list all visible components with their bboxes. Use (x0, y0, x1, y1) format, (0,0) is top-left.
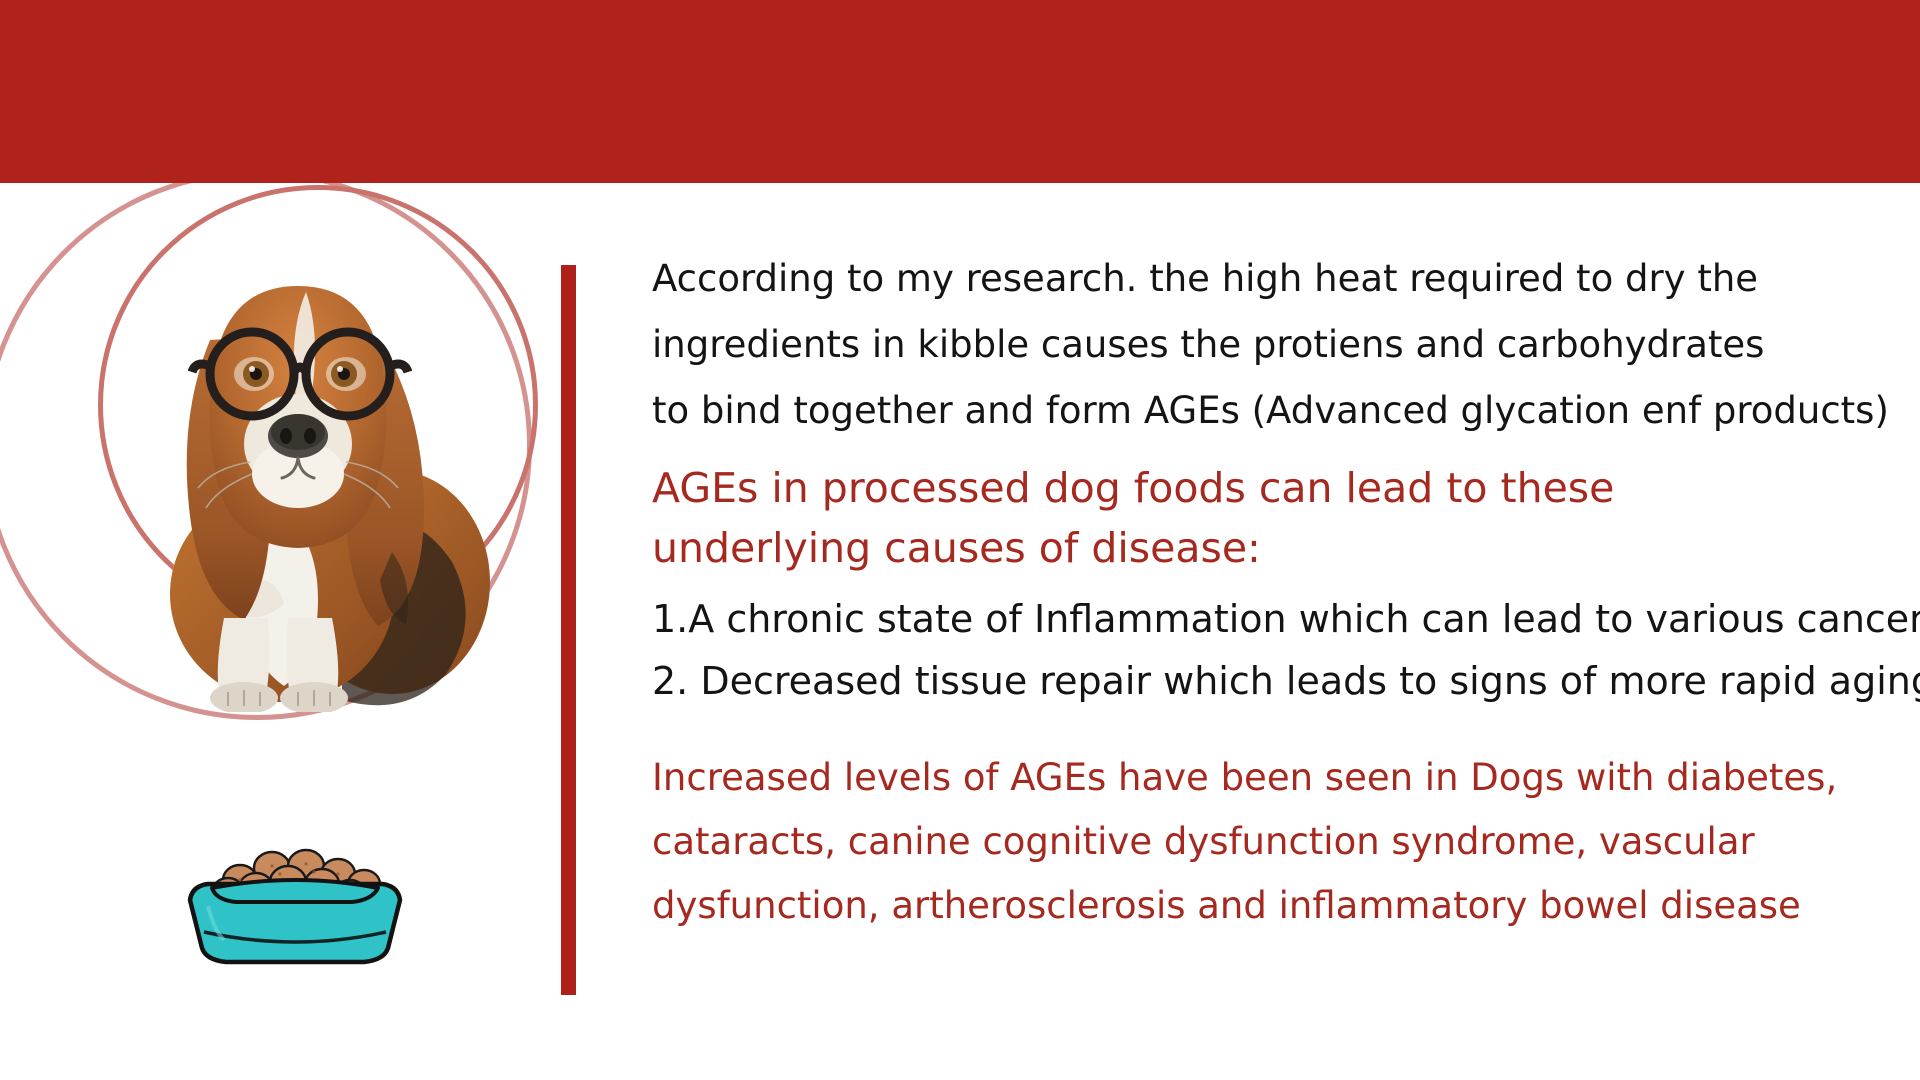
header-bar (0, 0, 1920, 183)
closing-paragraph: Increased levels of AGEs have been seen … (652, 746, 1902, 938)
intro-line-3: to bind together and form AGEs (Advanced… (652, 378, 1902, 444)
ages-heading-line-1: AGEs in processed dog foods can lead to … (652, 458, 1902, 518)
dog-bowl-image (168, 824, 422, 966)
closing-line-2: cataracts, canine cognitive dysfunction … (652, 810, 1902, 874)
content-column: According to my research. the high heat … (652, 246, 1902, 938)
intro-paragraph: According to my research. the high heat … (652, 246, 1902, 444)
ages-heading-line-2: underlying causes of disease: (652, 518, 1902, 578)
disease-list: 1.A chronic state of Inflammation which … (652, 588, 1902, 712)
closing-line-1: Increased levels of AGEs have been seen … (652, 746, 1902, 810)
intro-line-1: According to my research. the high heat … (652, 246, 1902, 312)
ages-heading: AGEs in processed dog foods can lead to … (652, 458, 1902, 578)
intro-line-2: ingredients in kibble causes the protien… (652, 312, 1902, 378)
list-item: 2. Decreased tissue repair which leads t… (652, 650, 1902, 712)
list-item: 1.A chronic state of Inflammation which … (652, 588, 1902, 650)
slide-canvas: Professor Poindexter Examines Kibble (0, 0, 1920, 1080)
basset-hound-image (92, 222, 512, 712)
vertical-divider (561, 265, 576, 995)
closing-line-3: dysfunction, artherosclerosis and inflam… (652, 874, 1902, 938)
